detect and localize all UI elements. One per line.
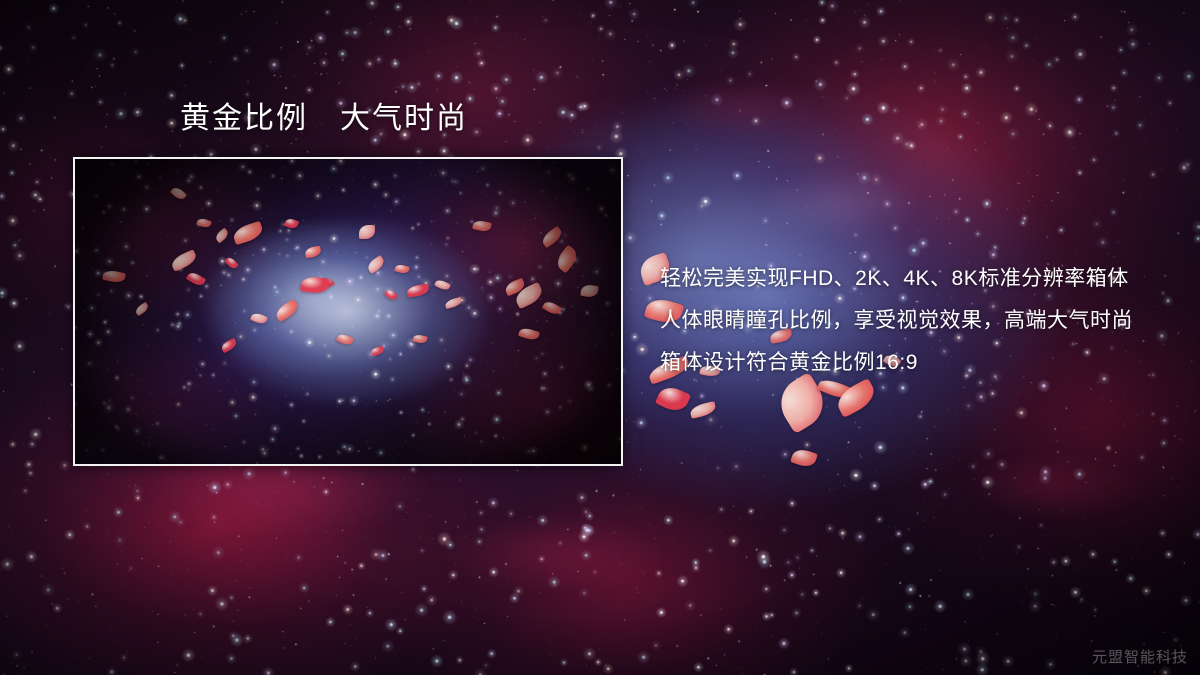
body-line-1: 轻松完美实现FHD、2K、4K、8K标准分辨率箱体 — [660, 258, 1180, 300]
rose-petal — [273, 299, 300, 322]
watermark-label: 元盟智能科技 — [1092, 646, 1188, 667]
rose-petal — [542, 299, 563, 317]
rose-petal — [503, 278, 526, 297]
rose-petal — [689, 401, 717, 419]
rose-petal — [553, 245, 580, 274]
rose-petal — [444, 297, 463, 309]
rose-petal — [412, 333, 428, 344]
rose-petal — [304, 246, 321, 259]
rose-petal — [394, 263, 410, 275]
rose-petal — [231, 221, 264, 245]
rose-petal — [224, 255, 239, 270]
photo-vignette — [75, 159, 621, 464]
rose-petal — [214, 228, 231, 244]
photo-frame — [73, 157, 623, 466]
rose-petal — [472, 219, 492, 233]
rose-petal — [434, 278, 451, 292]
rose-petal — [170, 185, 187, 202]
rose-petal — [359, 225, 375, 239]
rose-petal — [134, 302, 150, 316]
rose-petal — [365, 255, 386, 274]
rose-petal — [322, 277, 335, 289]
rose-petal — [102, 269, 126, 284]
rose-petal — [186, 270, 207, 288]
rose-petal — [169, 249, 198, 271]
rose-petal — [833, 378, 880, 418]
rose-petal — [384, 288, 398, 302]
rose-petal — [196, 217, 212, 229]
photo-nebula-image — [75, 159, 621, 464]
body-line-2: 人体眼睛瞳孔比例，享受视觉效果，高端大气时尚 — [660, 300, 1180, 342]
rose-petal — [513, 282, 546, 310]
rose-petal — [580, 284, 599, 298]
rose-petal — [370, 346, 384, 357]
rose-petal — [406, 284, 429, 298]
rose-petal — [284, 217, 299, 230]
rose-petal — [220, 338, 238, 353]
slide-title: 黄金比例 大气时尚 — [180, 100, 468, 138]
body-copy-block: 轻松完美实现FHD、2K、4K、8K标准分辨率箱体 人体眼睛瞳孔比例，享受视觉效… — [660, 258, 1180, 384]
presentation-slide: 黄金比例 大气时尚 轻松完美实现FHD、2K、4K、8K标准分辨率箱体 人体眼睛… — [0, 0, 1200, 675]
rose-petal — [790, 447, 818, 470]
rose-petal — [518, 326, 540, 342]
rose-petal — [655, 383, 691, 415]
body-line-3: 箱体设计符合黄金比例16:9 — [660, 342, 1180, 384]
rose-petal — [250, 311, 268, 325]
rose-petal — [540, 226, 565, 249]
rose-petal — [336, 332, 354, 347]
rose-petal — [300, 275, 330, 295]
starfield-photo — [75, 159, 621, 464]
photo-petal-group — [75, 159, 621, 464]
